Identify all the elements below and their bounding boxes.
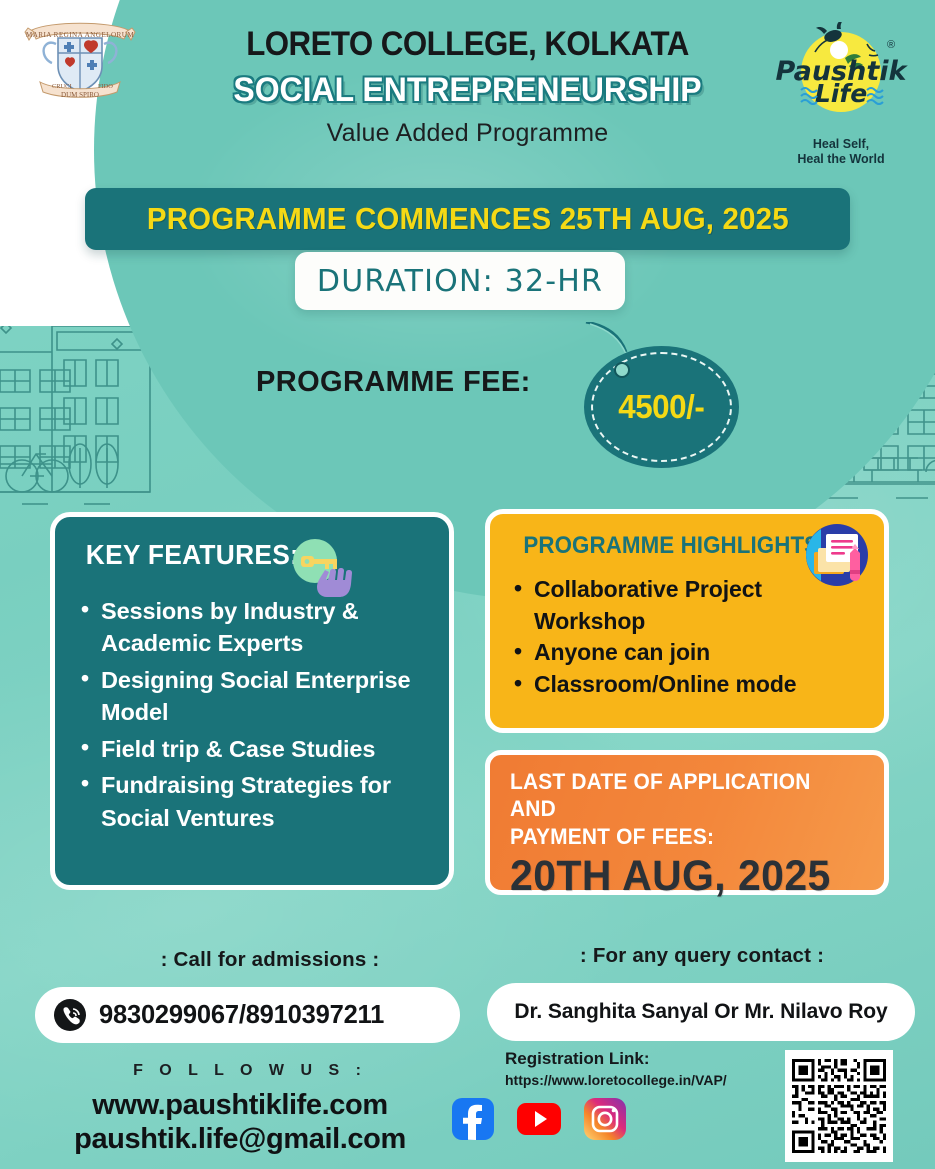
list-item: Designing Social Enterprise Model	[79, 664, 429, 729]
poster-root: MARIA REGINA ANGELORUM CRUCI FIDO DUM SP…	[0, 0, 935, 1169]
email-address[interactable]: paushtik.life@gmail.com	[30, 1122, 450, 1156]
list-item: Collaborative Project Workshop	[512, 574, 866, 637]
key-features-title: KEY FEATURES:	[86, 539, 299, 571]
call-for-admissions-heading: : Call for admissions :	[90, 948, 450, 972]
svg-text:Life: Life	[815, 79, 867, 108]
list-item: Fundraising Strategies for Social Ventur…	[79, 769, 429, 834]
last-date-panel: LAST DATE OF APPLICATION AND PAYMENT OF …	[485, 750, 889, 895]
last-date-line-1: LAST DATE OF APPLICATION AND	[510, 768, 843, 823]
list-item: Classroom/Online mode	[512, 669, 866, 701]
social-icons-row	[452, 1098, 626, 1140]
key-features-list: Sessions by Industry & Academic Experts …	[79, 595, 429, 834]
registration-link-block: Registration Link: https://www.loretocol…	[505, 1049, 775, 1088]
programme-highlights-title: PROGRAMME HIGHLIGHTS:	[523, 532, 826, 560]
paushtik-life-logo: Paushtik Life ® Heal Self, Heal the Worl…	[771, 22, 911, 168]
svg-text:®: ®	[887, 39, 895, 51]
website-url[interactable]: www.paushtiklife.com	[30, 1088, 450, 1122]
paushtik-life-logo-icon: Paushtik Life ®	[771, 22, 911, 130]
key-features-panel: KEY FEATURES: Sessions by Industry & Aca…	[50, 512, 454, 890]
phone-numbers-pill[interactable]: 9830299067/8910397211	[35, 987, 460, 1043]
key-hand-icon	[285, 537, 357, 599]
list-item: Anyone can join	[512, 637, 866, 669]
youtube-icon[interactable]	[516, 1098, 562, 1140]
list-item: Sessions by Industry & Academic Experts	[79, 595, 429, 660]
fee-price-tag: 4500/-	[578, 322, 738, 452]
query-contact-pill[interactable]: Dr. Sanghita Sanyal Or Mr. Nilavo Roy	[487, 983, 915, 1041]
query-contact-names: Dr. Sanghita Sanyal Or Mr. Nilavo Roy	[514, 1000, 887, 1024]
programme-highlights-list: Collaborative Project Workshop Anyone ca…	[512, 574, 866, 701]
instagram-icon[interactable]	[584, 1098, 626, 1140]
follow-us-label: F O L L O W U S :	[60, 1062, 440, 1080]
commence-banner: PROGRAMME COMMENCES 25TH AUG, 2025	[85, 188, 850, 250]
duration-text: DURATION: 32-HR	[317, 264, 603, 299]
registration-link-url[interactable]: https://www.loretocollege.in/VAP/	[505, 1072, 775, 1088]
programme-fee-label: PROGRAMME FEE:	[256, 366, 531, 399]
last-date-line-2: PAYMENT OF FEES:	[510, 823, 843, 850]
registration-link-title: Registration Link:	[505, 1049, 775, 1069]
fee-amount-circle: 4500/-	[584, 346, 739, 468]
query-contact-heading: : For any query contact :	[512, 944, 892, 968]
facebook-icon[interactable]	[452, 1098, 494, 1140]
tagline-line-1: Heal Self,	[771, 137, 911, 152]
registration-qr-code[interactable]	[785, 1050, 893, 1162]
tag-hole-icon	[614, 362, 630, 378]
college-name: LORETO COLLEGE, KOLKATA	[37, 26, 897, 63]
list-item: Field trip & Case Studies	[79, 733, 429, 765]
commence-text: PROGRAMME COMMENCES 25TH AUG, 2025	[147, 201, 789, 237]
fee-amount: 4500/-	[618, 388, 704, 426]
duration-badge: DURATION: 32-HR	[295, 252, 625, 310]
tagline-line-2: Heal the World	[771, 152, 911, 167]
paushtik-tagline: Heal Self, Heal the World	[771, 137, 911, 168]
last-date-value: 20TH AUG, 2025	[510, 854, 850, 899]
phone-numbers: 9830299067/8910397211	[99, 1001, 384, 1030]
qr-code-icon	[792, 1057, 886, 1155]
phone-icon	[53, 998, 87, 1032]
programme-highlights-panel: PROGRAMME HIGHLIGHTS: Collaborative Proj…	[485, 509, 889, 733]
web-contact-block: www.paushtiklife.com paushtik.life@gmail…	[30, 1088, 450, 1156]
